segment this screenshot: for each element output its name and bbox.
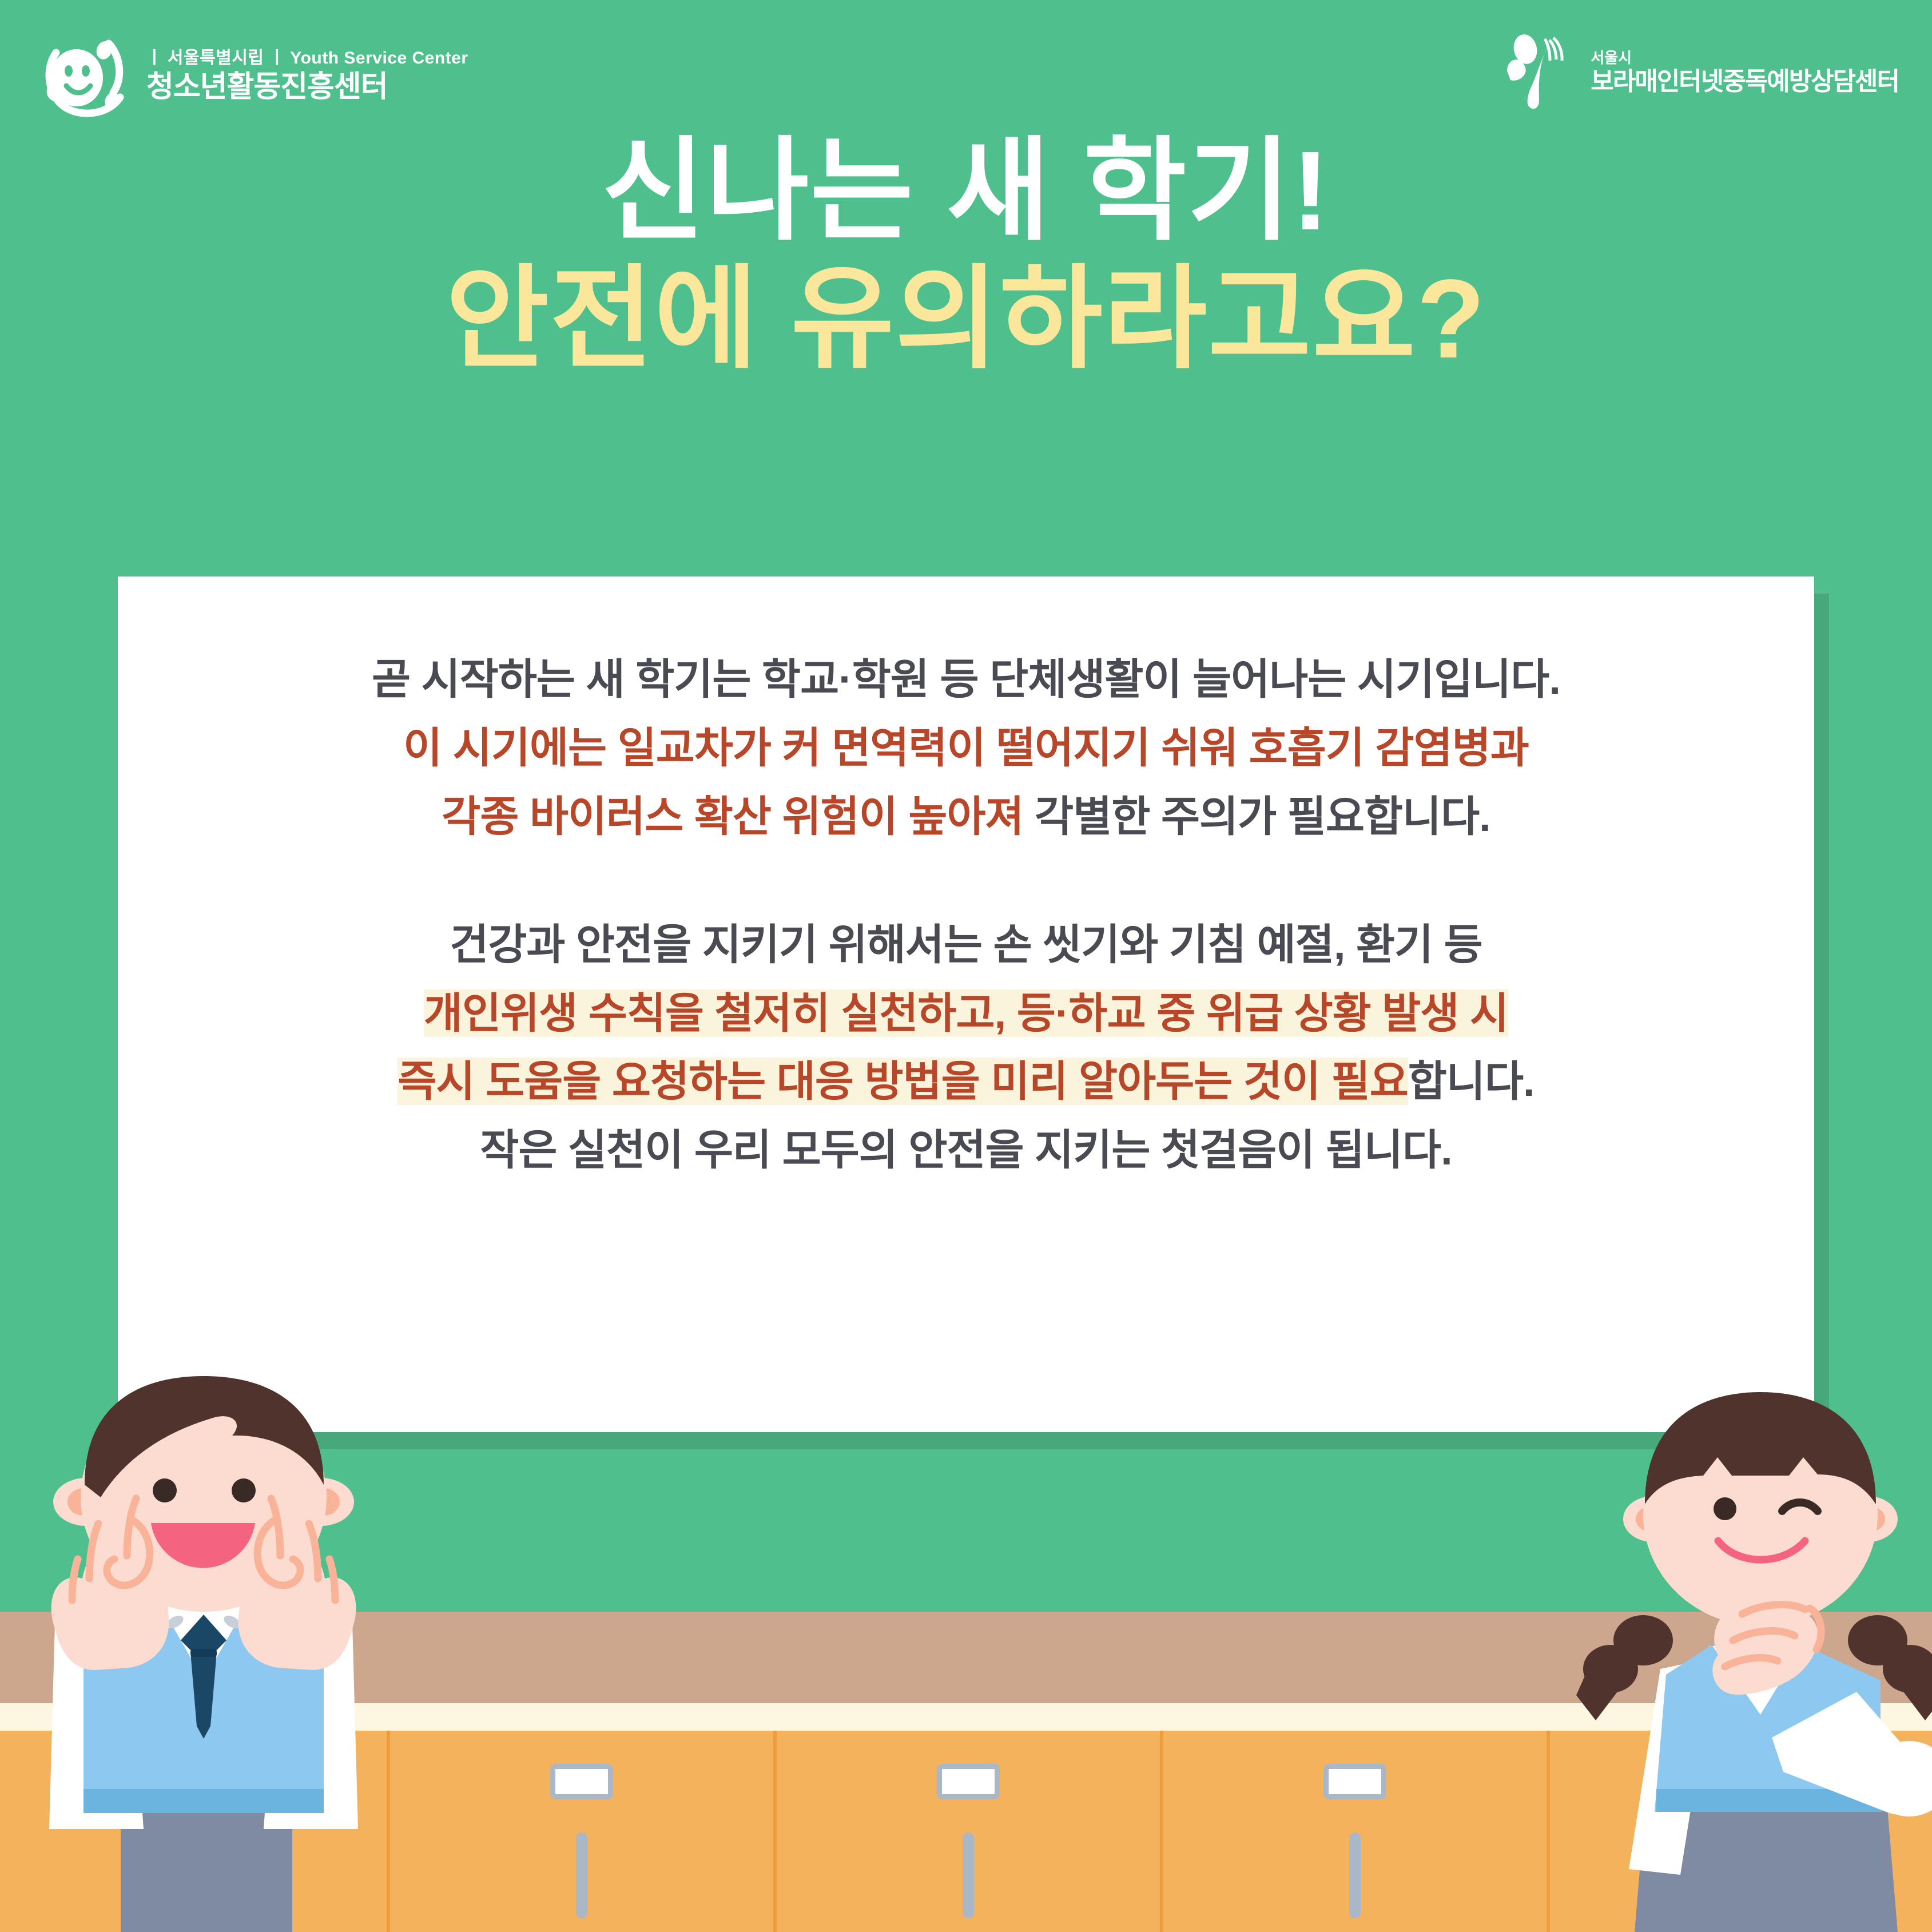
- board-body-text: 곧 시작하는 새 학기는 학교·학원 등 단체생활이 늘어나는 시기입니다.이 …: [118, 645, 1814, 1184]
- body-line: 곧 시작하는 새 학기는 학교·학원 등 단체생활이 늘어나는 시기입니다.: [118, 645, 1814, 714]
- title-line-2: 안전에 유의하라고요?: [0, 260, 1932, 379]
- body-text: 작은 실천이 우리 모두의 안전을 지키는 첫걸음이 됩니다.: [480, 1126, 1452, 1174]
- paragraph-2: 건강과 안전을 지키기 위해서는 손 씻기와 기침 예절, 환기 등개인위생 수…: [118, 911, 1814, 1185]
- body-line: 작은 실천이 우리 모두의 안전을 지키는 첫걸음이 됩니다.: [118, 1116, 1814, 1184]
- smiley-person-logo-icon: [40, 33, 132, 119]
- body-text: 각별한 주의가 필요합니다.: [1035, 793, 1490, 840]
- poster-title: 신나는 새 학기! 안전에 유의하라고요?: [0, 132, 1932, 379]
- logo-left-kicker: ㅣ 서울특별시립 ㅣ Youth Service Center: [146, 49, 468, 67]
- body-text: 각종 바이러스 확산 위험이 높아져: [442, 793, 1035, 840]
- body-line: 즉시 도움을 요청하는 대응 방법을 미리 알아두는 것이 필요합니다.: [118, 1047, 1814, 1116]
- cabinet-handle: [1349, 1832, 1361, 1918]
- body-text: 건강과 안전을 지키기 위해서는 손 씻기와 기침 예절, 환기 등: [450, 921, 1482, 968]
- girl-eye-left: [1714, 1497, 1736, 1520]
- logo-right-name: 보라매인터넷중독예방상담센터: [1591, 68, 1899, 96]
- boy-tie-band: [190, 1649, 217, 1657]
- person-figure-logo-icon: [1497, 30, 1577, 116]
- body-line: 이 시기에는 일교차가 커 면역력이 떨어지기 쉬워 호흡기 감염병과: [118, 714, 1814, 782]
- body-text: 곧 시작하는 새 학기는 학교·학원 등 단체생활이 늘어나는 시기입니다.: [372, 655, 1560, 703]
- cabinet-handle: [963, 1832, 974, 1918]
- logo-borame-center: 서울시 보라매인터넷중독예방상담센터: [1497, 30, 1899, 116]
- boy-eye-left: [153, 1478, 177, 1502]
- boy-vest-hem: [84, 1789, 324, 1813]
- cabinet-label-holder: [1323, 1764, 1386, 1799]
- poster-card: ㅣ 서울특별시립 ㅣ Youth Service Center 청소년활동진흥센…: [0, 0, 1932, 1932]
- body-text: 합니다.: [1408, 1058, 1535, 1105]
- cabinet-door: [773, 1731, 1160, 1932]
- cabinet-label-holder: [937, 1764, 1000, 1799]
- logo-left-name: 청소년활동진흥센터: [146, 71, 468, 103]
- paragraph-spacer: [118, 851, 1814, 911]
- cabinet-door: [1160, 1731, 1547, 1932]
- body-text: 이 시기에는 일교차가 커 면역력이 떨어지기 쉬워 호흡기 감염병과: [403, 724, 1529, 772]
- body-line: 각종 바이러스 확산 위험이 높아져 각별한 주의가 필요합니다.: [118, 782, 1814, 851]
- paragraph-1: 곧 시작하는 새 학기는 학교·학원 등 단체생활이 늘어나는 시기입니다.이 …: [118, 645, 1814, 851]
- boy-eye-right: [232, 1478, 256, 1502]
- highlighted-text: 개인위생 수칙을 철저히 실천하고, 등·하교 중 위급 상황 발생 시: [424, 989, 1508, 1037]
- student-right-girl: [1543, 1372, 1932, 1932]
- whiteboard: 곧 시작하는 새 학기는 학교·학원 등 단체생활이 늘어나는 시기입니다.이 …: [118, 577, 1814, 1432]
- logo-right-kicker: 서울시: [1591, 50, 1899, 66]
- cabinet-label-holder: [550, 1764, 613, 1799]
- body-line: 건강과 안전을 지키기 위해서는 손 씻기와 기침 예절, 환기 등: [118, 911, 1814, 979]
- logo-youth-service-center: ㅣ 서울특별시립 ㅣ Youth Service Center 청소년활동진흥센…: [40, 33, 468, 119]
- student-left-boy: [0, 1354, 421, 1932]
- highlighted-text: 즉시 도움을 요청하는 대응 방법을 미리 알아두는 것이 필요: [397, 1058, 1408, 1105]
- title-line-1: 신나는 새 학기!: [0, 132, 1932, 251]
- cabinet-door: [387, 1731, 773, 1932]
- body-line: 개인위생 수칙을 철저히 실천하고, 등·하교 중 위급 상황 발생 시: [118, 979, 1814, 1048]
- cabinet-handle: [576, 1832, 587, 1918]
